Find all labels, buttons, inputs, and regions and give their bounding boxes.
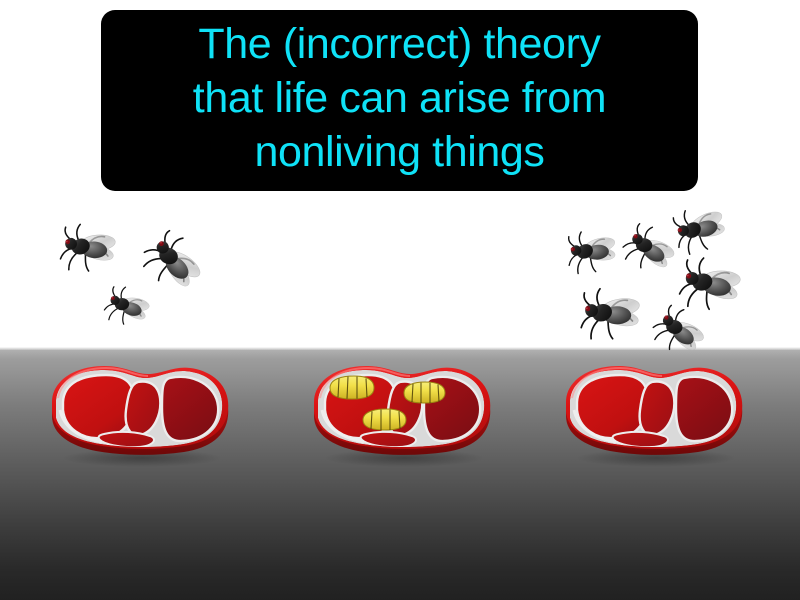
slide-canvas: The (incorrect) theory that life can ari… [0, 0, 800, 600]
steak-icon [552, 358, 752, 468]
title-text: The (incorrect) theory that life can ari… [193, 17, 606, 179]
fly-cluster-right [550, 195, 780, 360]
fly-icon [44, 207, 125, 288]
fly-icon [643, 296, 711, 364]
steak-with-maggots-icon [300, 358, 500, 468]
steak-icon [38, 358, 238, 468]
fly-icon [98, 279, 153, 334]
title-banner: The (incorrect) theory that life can ari… [101, 10, 698, 191]
fly-cluster-left [40, 205, 230, 355]
